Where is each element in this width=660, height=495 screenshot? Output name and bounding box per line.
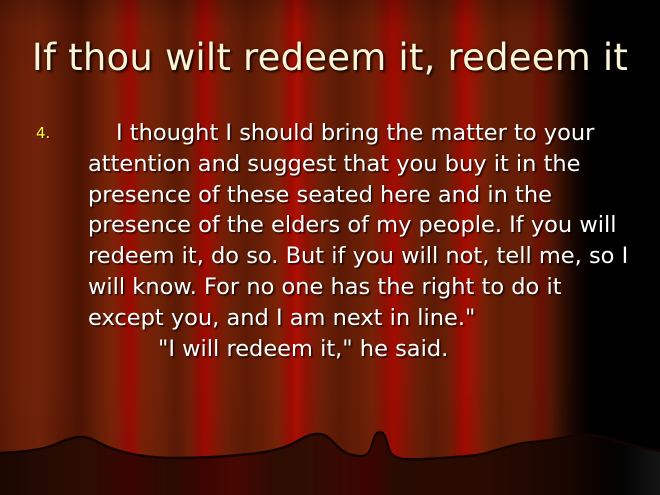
slide-title: If thou wilt redeem it, redeem it [0,36,660,80]
list-item-text-content: I thought I should bring the matter to y… [88,120,628,331]
slide-body: 4. I thought I should bring the matter t… [30,118,630,364]
list-item-marker: 4. [36,124,80,142]
curtain-hem [0,425,660,495]
list-item-text: I thought I should bring the matter to y… [88,118,630,334]
presentation-slide: If thou wilt redeem it, redeem it 4. I t… [0,0,660,495]
list-item: 4. I thought I should bring the matter t… [30,118,630,334]
quote-line: "I will redeem it," he said. [88,334,630,365]
